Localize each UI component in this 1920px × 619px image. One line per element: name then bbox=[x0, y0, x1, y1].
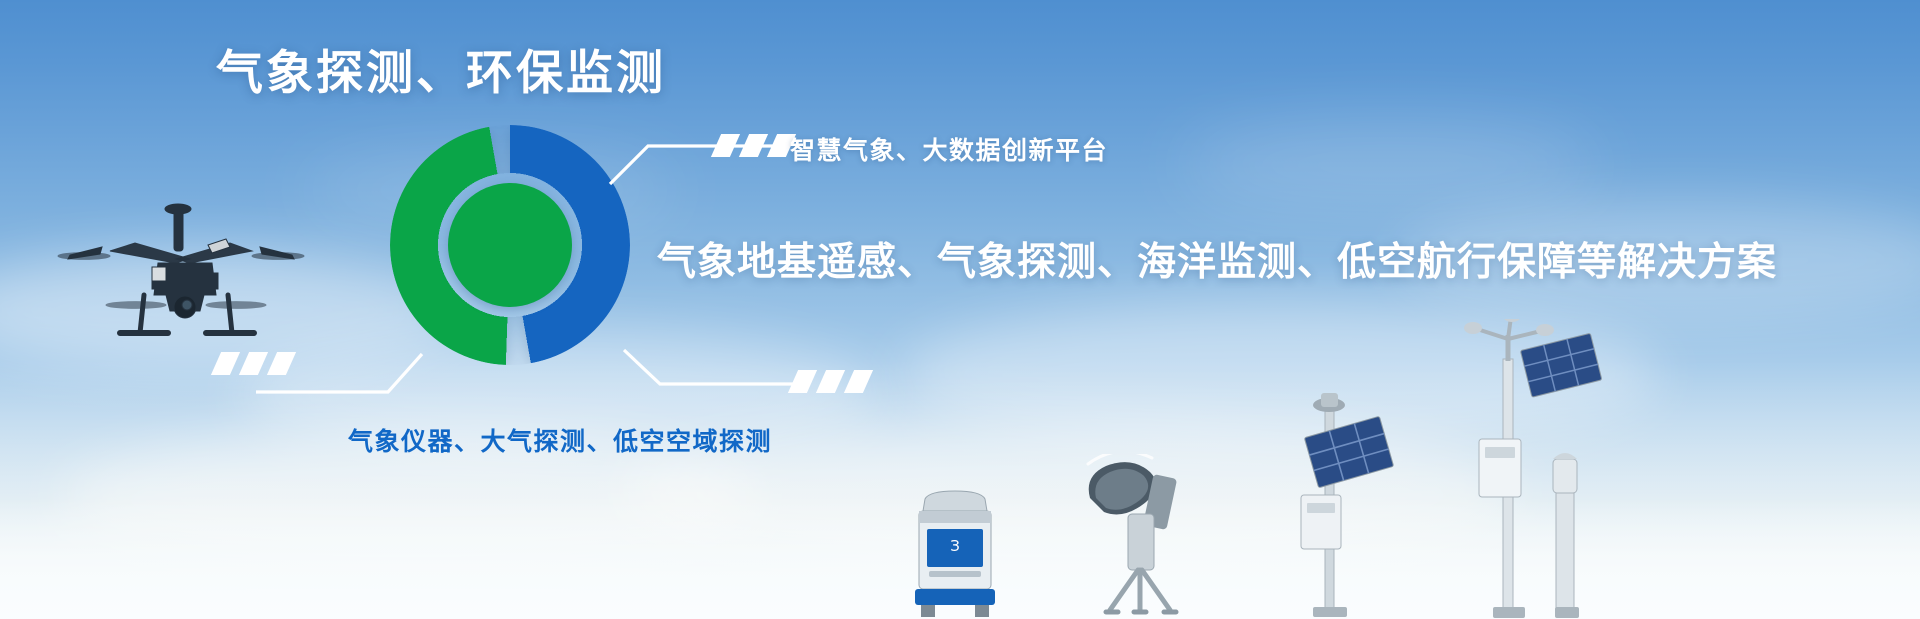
page-title: 气象探测、环保监测 bbox=[216, 49, 666, 96]
slash-marks-bottom bbox=[216, 352, 291, 375]
cloud bbox=[1180, 120, 1600, 210]
slash-marks-top bbox=[716, 134, 791, 157]
ring-graphic bbox=[390, 125, 630, 365]
satellite-dish-icon bbox=[1070, 454, 1205, 619]
feature-label-bottom: 气象仪器、大气探测、低空空域探测 bbox=[348, 422, 772, 458]
ring-inner-circle bbox=[448, 183, 572, 307]
drone-icon bbox=[40, 155, 320, 345]
weather-mast-icon bbox=[1415, 319, 1615, 619]
feature-label-main: 气象地基遥感、气象探测、海洋监测、低空航行保障等解决方案 bbox=[657, 231, 1777, 287]
marketing-banner: 气象探测、环保监测 智慧气象、大数据创新平台 气象地基遥感、气象探测、海洋监测、… bbox=[0, 0, 1920, 619]
solar-monitoring-station-icon bbox=[1275, 389, 1395, 619]
slash-marks-right bbox=[793, 370, 868, 393]
feature-label-top: 智慧气象、大数据创新平台 bbox=[790, 131, 1108, 167]
lidar-instrument-icon: З bbox=[895, 489, 1015, 619]
svg-text:З: З bbox=[950, 537, 960, 555]
